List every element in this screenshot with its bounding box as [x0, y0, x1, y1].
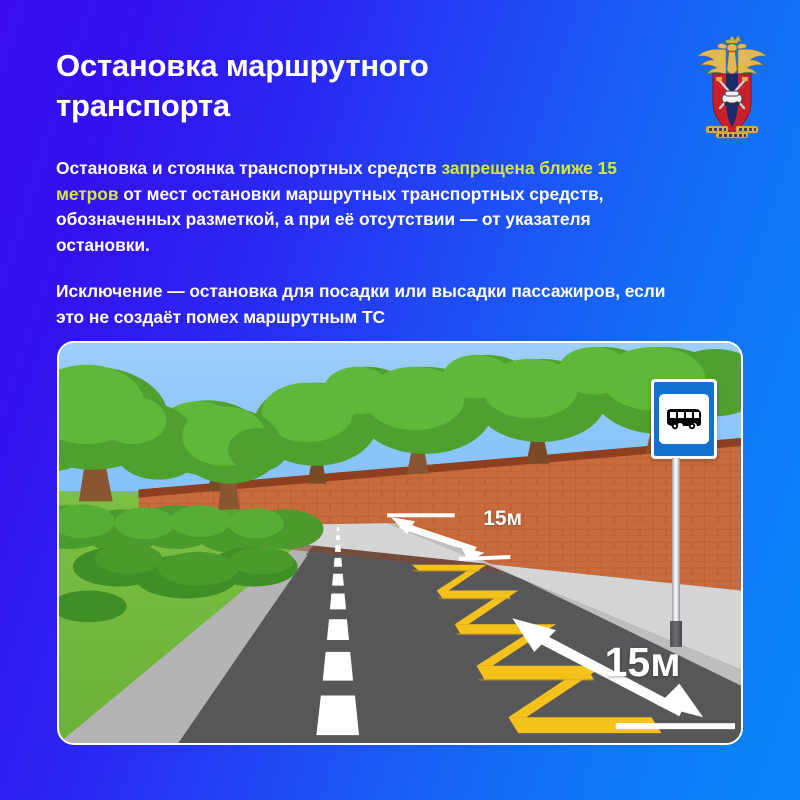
bus-icon: [664, 408, 704, 430]
infographic-poster: Остановка маршрутного транспорта: [0, 0, 800, 800]
sign-post-base: [670, 621, 682, 647]
body-copy: Остановка и стоянка транспортных средств…: [56, 156, 666, 330]
page-title: Остановка маршрутного транспорта: [56, 46, 526, 127]
road-scene-illustration: 15м 15м: [57, 341, 743, 745]
paragraph-rule-lead: Остановка и стоянка транспортных средств: [56, 158, 441, 178]
bus-stop-sign-plate: [659, 394, 709, 444]
paragraph-rule-tail: от мест остановки маршрутных транспортны…: [56, 184, 603, 255]
bus-stop-sign-face: [654, 382, 714, 456]
distance-label-near: 15м: [483, 507, 522, 531]
bus-stop-sign: [651, 379, 717, 459]
paragraph-rule: Остановка и стоянка транспортных средств…: [56, 156, 666, 258]
sign-post: [672, 458, 680, 628]
scene-canvas: 15м 15м: [59, 343, 741, 743]
paragraph-exception: Исключение — остановка для посадки или в…: [56, 279, 666, 330]
gibdd-emblem: [686, 30, 778, 140]
